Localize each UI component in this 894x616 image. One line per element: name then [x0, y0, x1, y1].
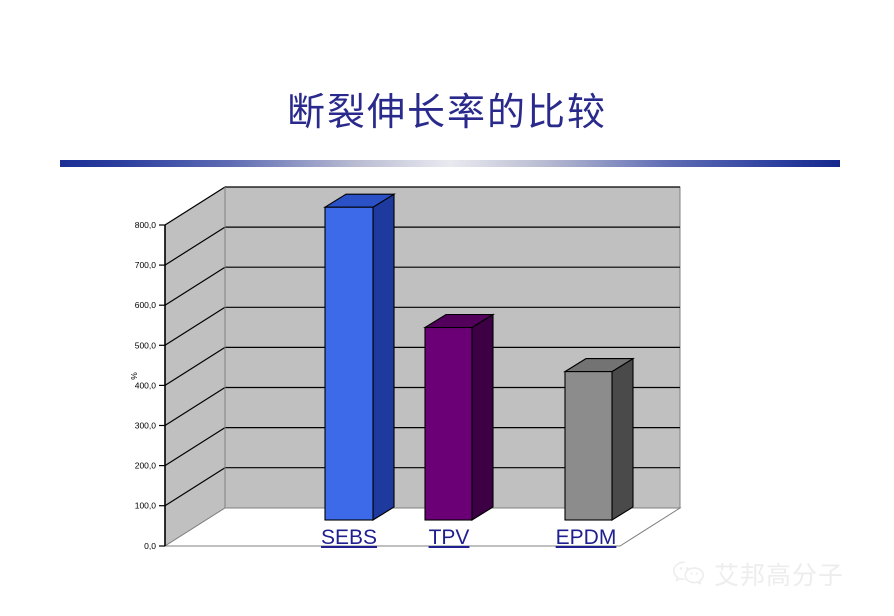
bar-epdm-side	[612, 359, 633, 520]
bar-tpv-side	[472, 315, 493, 521]
category-label-tpv: TPV	[389, 526, 509, 550]
bar-tpv-front	[425, 328, 472, 521]
y-tick-600: 600,0	[135, 300, 157, 310]
chart-svg: 800,0 700,0 600,0 500,0 400,0 300,0 200,…	[120, 178, 720, 573]
slide-canvas: 断裂伸长率的比较	[0, 0, 894, 616]
y-tick-400: 400,0	[135, 380, 157, 390]
category-label-epdm: EPDM	[526, 526, 646, 550]
title-divider	[60, 160, 840, 167]
y-tick-800: 800,0	[135, 220, 157, 230]
bar-sebs-side	[373, 194, 394, 520]
y-tick-0: 0,0	[144, 541, 156, 551]
y-tick-300: 300,0	[135, 421, 157, 431]
y-axis-tick-labels: 800,0 700,0 600,0 500,0 400,0 300,0 200,…	[135, 220, 157, 551]
y-tick-100: 100,0	[135, 501, 157, 511]
watermark-text: 艾邦高分子	[714, 556, 844, 592]
bar-epdm[interactable]	[565, 359, 633, 520]
bar-epdm-front	[565, 372, 612, 520]
y-axis-title: %	[129, 372, 139, 380]
watermark: 艾邦高分子	[672, 556, 844, 592]
bar-sebs[interactable]	[325, 194, 394, 520]
wechat-icon	[672, 560, 706, 588]
y-tick-200: 200,0	[135, 461, 157, 471]
bar-tpv[interactable]	[425, 315, 493, 521]
y-tick-500: 500,0	[135, 340, 157, 350]
y-axis	[159, 225, 165, 546]
bar-chart-3d: 800,0 700,0 600,0 500,0 400,0 300,0 200,…	[120, 178, 720, 573]
y-tick-700: 700,0	[135, 260, 157, 270]
bar-sebs-front	[325, 207, 373, 520]
page-title: 断裂伸长率的比较	[0, 92, 894, 134]
